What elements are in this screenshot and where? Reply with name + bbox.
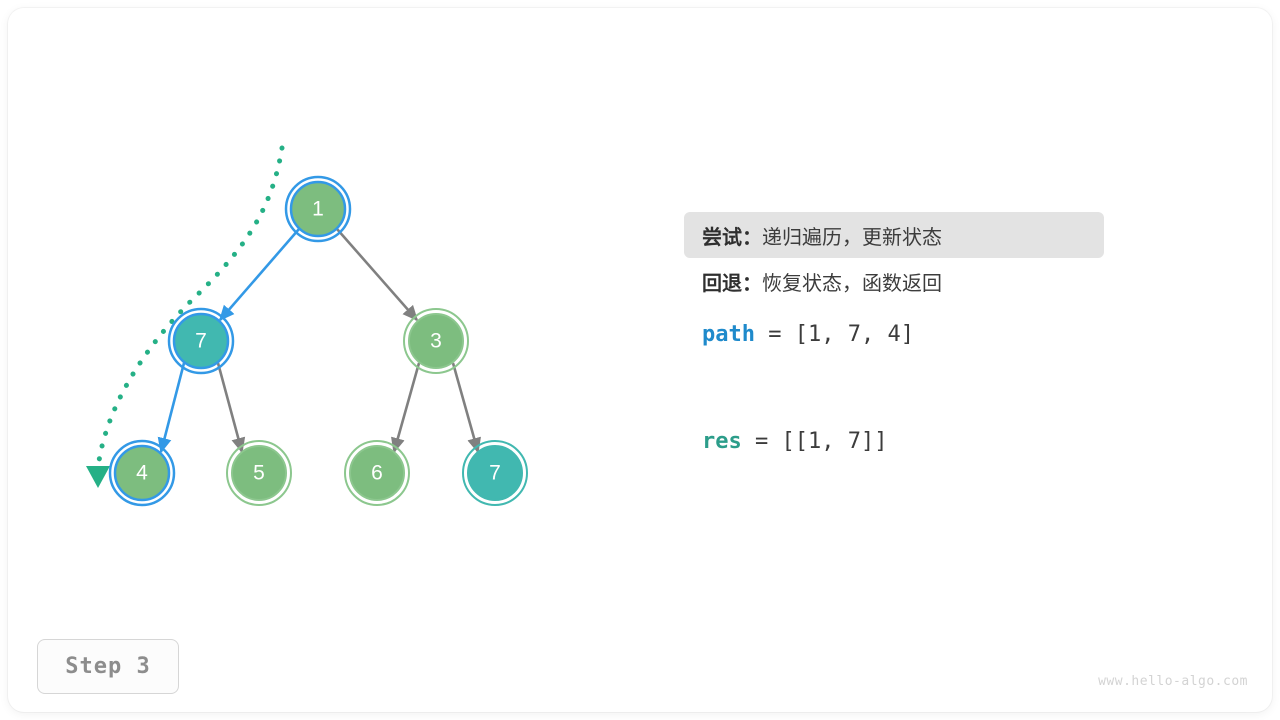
tree-node-5[interactable]: 5 [227, 441, 291, 505]
statement-try-text: 递归遍历，更新状态 [762, 221, 942, 250]
edge-n3-n6 [394, 363, 419, 452]
edge-n3-n7r [453, 363, 478, 452]
node-label: 1 [312, 198, 324, 221]
edge-n7l-n4 [161, 363, 184, 452]
node-label: 6 [371, 462, 383, 485]
traversal-path-group [86, 148, 282, 488]
statement-try: 尝试： 递归遍历，更新状态 [684, 212, 1104, 258]
variable-name-path: path [702, 322, 755, 347]
edge-n7l-n5 [218, 363, 242, 452]
assignment-operator: = [742, 429, 782, 454]
step-badge: Step 3 [37, 639, 179, 694]
tree-node-4[interactable]: 4 [110, 441, 174, 505]
watermark-url: www.hello-algo.com [1098, 674, 1248, 689]
screenshot-root: 1 7 3 4 5 6 7 [0, 0, 1280, 720]
edge-n1-n7l [220, 229, 299, 320]
variable-name-res: res [702, 429, 742, 454]
statement-backtrack-text: 恢复状态，函数返回 [762, 267, 942, 296]
traversal-path-curve [98, 148, 282, 468]
statement-try-label: 尝试： [702, 221, 762, 250]
variable-value-path: [1, 7, 4] [795, 322, 914, 347]
node-label: 7 [195, 330, 207, 353]
code-line-path: path = [1, 7, 4] [684, 322, 1104, 347]
node-label: 5 [253, 462, 265, 485]
tree-node-7-right[interactable]: 7 [463, 441, 527, 505]
node-label: 7 [489, 462, 501, 485]
assignment-operator: = [755, 322, 795, 347]
node-label: 4 [136, 462, 148, 485]
code-line-res: res = [[1, 7]] [684, 429, 1104, 454]
explanation-panel: 尝试： 递归遍历，更新状态 回退： 恢复状态，函数返回 path = [1, 7… [684, 212, 1104, 454]
tree-node-3[interactable]: 3 [404, 309, 468, 373]
variable-value-res: [[1, 7]] [782, 429, 888, 454]
traversal-path-end-marker [86, 466, 110, 488]
statement-backtrack-label: 回退： [702, 267, 762, 296]
step-badge-label: Step 3 [65, 654, 150, 679]
statement-backtrack: 回退： 恢复状态，函数返回 [684, 258, 1104, 304]
tree-node-6[interactable]: 6 [345, 441, 409, 505]
edge-n1-n3 [337, 229, 417, 320]
tree-node-1[interactable]: 1 [286, 177, 350, 241]
node-label: 3 [430, 330, 442, 353]
tree-node-7-left[interactable]: 7 [169, 309, 233, 373]
